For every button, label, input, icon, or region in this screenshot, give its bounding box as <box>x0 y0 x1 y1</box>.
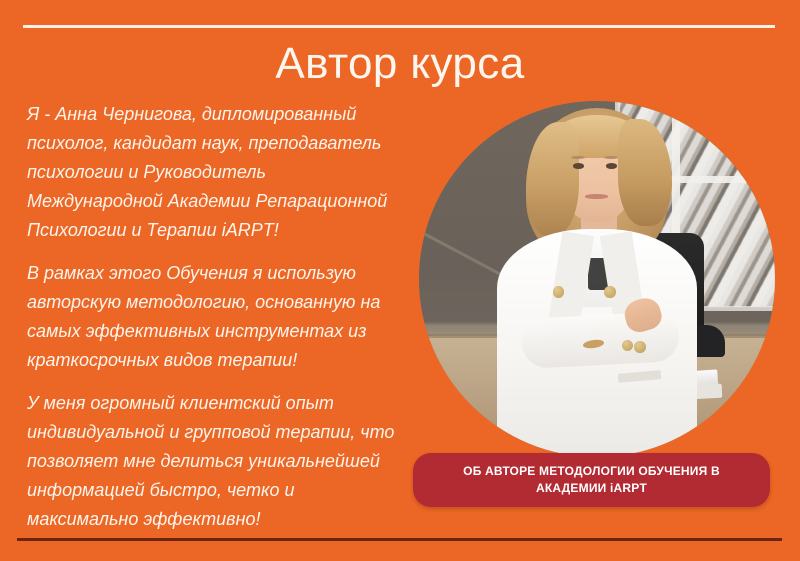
cuff-button-2 <box>634 341 645 352</box>
slide-root: { "theme": { "background_color": "#ec672… <box>0 0 800 561</box>
paragraph-1: Я - Анна Чернигова, дипломированный псих… <box>27 100 405 245</box>
top-divider <box>23 25 775 28</box>
page-title: Автор курса <box>0 38 800 90</box>
mouth <box>585 194 608 199</box>
blazer-button-2 <box>604 286 615 297</box>
portrait-scene <box>419 101 775 457</box>
eye-left <box>573 163 584 168</box>
caption-badge: ОБ АВТОРЕ МЕТОДОЛОГИИ ОБУЧЕНИЯ В АКАДЕМИ… <box>413 453 770 507</box>
caption-badge-text: ОБ АВТОРЕ МЕТОДОЛОГИИ ОБУЧЕНИЯ В АКАДЕМИ… <box>413 463 770 497</box>
eye-right <box>606 163 617 168</box>
author-portrait <box>419 101 775 457</box>
blazer-button-1 <box>553 286 564 297</box>
cuff-button-1 <box>622 340 633 351</box>
bottom-divider <box>17 538 782 541</box>
paragraph-2: В рамках этого Обучения я использую авто… <box>27 259 405 375</box>
body-copy: Я - Анна Чернигова, дипломированный псих… <box>27 100 405 534</box>
paragraph-3: У меня огромный клиентский опыт индивиду… <box>27 389 405 534</box>
